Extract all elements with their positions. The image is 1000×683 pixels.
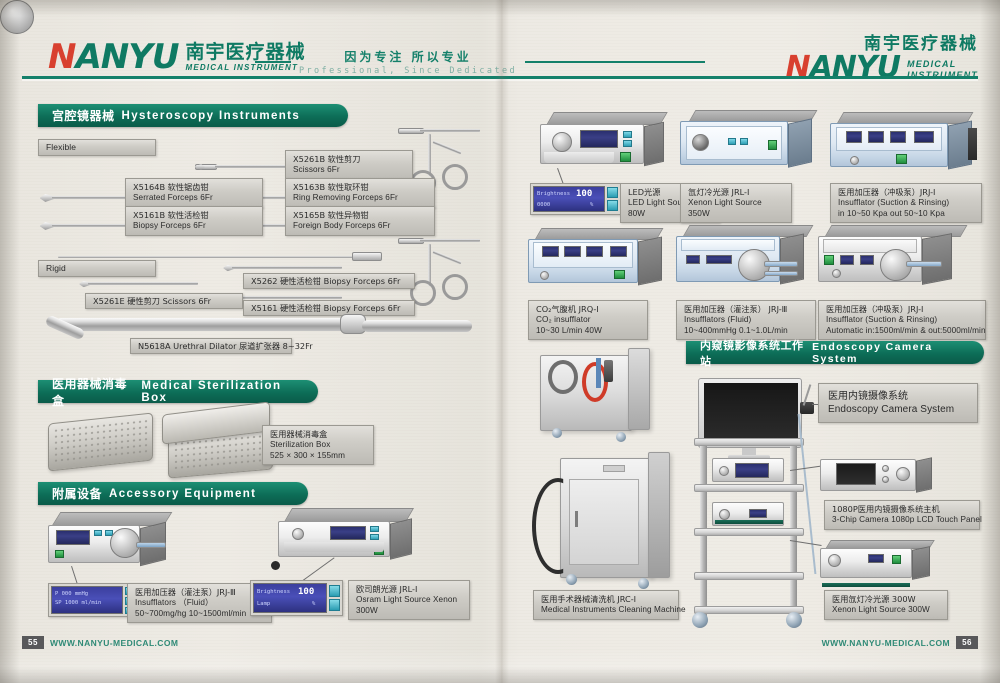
cart-shelf-1 [694, 438, 804, 446]
caption-rigid-biopsy-forceps-x5161: X5161 硬性活检钳 Biopsy Forceps 6Fr [243, 300, 415, 316]
caption-cleaning-machine: 医用手术器械清洗机 JRC-Ⅰ Medical Instruments Clea… [533, 590, 679, 620]
urethral-dilator-handle [362, 320, 472, 332]
caster-1 [552, 428, 562, 438]
long-instrument-shaft [58, 256, 358, 258]
lcd-key-brightness-down[interactable] [329, 599, 340, 611]
detail-panel-light-source-lcd: Brightness 100 Lamp % [250, 580, 343, 616]
tagline: 因为专注 所以专业 Professional, Since Dedicated [255, 48, 705, 76]
page-edge-top [0, 0, 1000, 16]
page-number-right: 56 [956, 636, 978, 649]
caption-urethral-dilator: N5618A Urethral Dilator 尿道扩张器 8~32Fr [130, 338, 292, 354]
caption-sterilization-box: 医用器械消毒盒 Sterilization Box 525 × 300 × 15… [262, 425, 374, 465]
caster-3 [566, 574, 577, 585]
cart-shelf-4 [694, 572, 804, 580]
spray-gun [604, 360, 613, 382]
caption-xenon-light-source: 氙灯冷光源 JRL-Ⅰ Xenon Light Source 350W [680, 183, 792, 223]
caption-scissors-6fr: X5261B 软性剪刀 Scissors 6Fr [285, 150, 413, 180]
tagline-rule-right [525, 61, 705, 63]
brand-sub-medical: MEDICAL [907, 60, 978, 69]
device-co2-insufflator-art [528, 228, 668, 290]
hose-coil-gray [548, 360, 578, 394]
light-source-on-cart [712, 502, 784, 526]
device-osram-light-source-art [278, 508, 418, 570]
led-lcd-key-up[interactable] [607, 187, 618, 198]
tagline-chinese: 因为专注 所以专业 [344, 48, 471, 65]
caption-rigid-scissors-x5261e: X5261E 硬性剪刀 Scissors 6Fr [85, 293, 243, 309]
page-edge-bottom [0, 667, 1000, 683]
cart-caster-left [692, 612, 708, 628]
footer-url-left[interactable]: WWW.NANYU-MEDICAL.COM [50, 638, 178, 648]
sterilization-tray-closed-art [48, 412, 153, 471]
section-header-hysteroscopy: 宫腔镜器械 Hysteroscopy Instruments [38, 104, 348, 127]
caption-endoscopy-camera-system: 医用内镜摄像系统 Endoscopy Camera System [818, 383, 978, 423]
detail-panel-led-lcd: Brightness 100 0000 % [530, 183, 621, 215]
device-insufflator-fluid-right-art [676, 225, 826, 291]
caption-ring-removing-forceps: X5163B 软性取环钳 Ring Removing Forceps 6Fr [285, 178, 435, 208]
section-header-endoscopy-camera: 内窥镜影像系统工作站 Endoscopy Camera System [686, 341, 984, 364]
section-header-sterilization: 医用器械消毒盒 Medical Sterilization Box [38, 380, 318, 403]
page-edge-left [0, 0, 20, 683]
caption-insufflator-auto: 医用加压器（冲吸泵）JRJ-Ⅰ Insufflator (Suction & R… [818, 300, 986, 340]
lcd-key-brightness-up[interactable] [329, 585, 340, 597]
insufflator-lcd-screen: P 000 mmHg SP 1000 ml/min [51, 586, 123, 614]
caption-ccu-1080p: 1080P医用内镜摄像系统主机 3-Chip Camera 1080p LCD … [824, 500, 980, 530]
cleaning-machine-cabinet-side [648, 452, 670, 578]
device-insufflator-suction-art [830, 112, 980, 174]
brand-wordmark: NANYU [48, 40, 178, 74]
page-gutter-shadow [495, 0, 509, 683]
cleaning-machine-cabinet-art [560, 458, 652, 578]
long-instrument-hub [352, 252, 382, 261]
cart-shelf-5 [694, 606, 804, 614]
device-xenon-light-source-art [680, 110, 820, 172]
cart-shelf-2 [694, 484, 804, 492]
caption-serrated-forceps: X5164B 软性锯齿钳 Serrated Forceps 6Fr [125, 178, 263, 208]
page-edge-right [980, 0, 1000, 683]
caster-2 [616, 432, 626, 442]
caption-biopsy-forceps-flexible: X5161B 软性活检钳 Biopsy Forceps 6Fr [125, 206, 263, 236]
light-guide-cable-art [798, 414, 817, 574]
header-divider [22, 76, 978, 79]
tagline-rule-left [255, 61, 291, 63]
device-led-light-source-art [540, 112, 670, 174]
light-guide-port [271, 561, 280, 570]
device-ccu-1080p-art [820, 455, 936, 497]
caption-insufflator-fluid-right: 医用加压器（灌注泵） JRJ-Ⅲ Insufflators (Fluid) 10… [676, 300, 816, 340]
caption-rigid-biopsy-forceps-x5262: X5262 硬性活检钳 Biopsy Forceps 6Fr [243, 273, 415, 289]
hose-blue-tube [596, 358, 601, 388]
caption-co2-insufflator: CO₂气腹机 JRQ-Ⅰ CO₂ insufflator 10~30 L/min… [528, 300, 648, 340]
instrument-rigid-scissors-art [78, 278, 198, 290]
brand-letter-n: N [48, 37, 75, 77]
section-header-accessory: 附属设备 Accessory Equipment [38, 482, 308, 505]
device-insufflator-fluid-art [48, 512, 176, 572]
cart-shelf-3 [694, 528, 804, 536]
caption-foreign-body-forceps: X5165B 软性异物钳 Foreign Body Forceps 6Fr [285, 206, 435, 236]
urethral-dilator-art [55, 318, 355, 331]
caption-xenon-300w: 医用氙灯冷光源 300W Xenon Light Source 300W [824, 590, 948, 620]
cart-caster-right [786, 612, 802, 628]
light-source-lcd-screen: Brightness 100 Lamp % [253, 583, 327, 613]
catalog-page-spread: NANYU 南宇医疗器械 MEDICAL INSTRUMENT 因为专注 所以专… [0, 0, 1000, 683]
led-lcd-screen: Brightness 100 0000 % [533, 186, 605, 212]
camera-ccu-on-cart [712, 458, 784, 482]
device-insufflator-auto-art [818, 225, 980, 291]
led-lcd-key-down[interactable] [607, 200, 618, 211]
device-xenon-300w-art [820, 540, 940, 588]
instrument-flexible-scissors-art [195, 162, 295, 172]
footer-url-right[interactable]: WWW.NANYU-MEDICAL.COM [822, 638, 950, 648]
caption-osram-light-source: 欧司朗光源 JRL-Ⅰ Osram Light Source Xenon 300… [348, 580, 470, 620]
cleaning-machine-upper-side [628, 348, 650, 430]
caster-4 [638, 578, 649, 589]
tagline-english: Professional, Since Dedicated [299, 66, 517, 76]
caption-insufflator-suction-rinsing: 医用加压器（冲吸泵）JRJ-Ⅰ Insufflator (Suction & R… [830, 183, 982, 223]
group-label-flexible: Flexible [38, 139, 156, 156]
group-label-rigid: Rigid [38, 260, 156, 277]
page-number-left: 55 [22, 636, 44, 649]
